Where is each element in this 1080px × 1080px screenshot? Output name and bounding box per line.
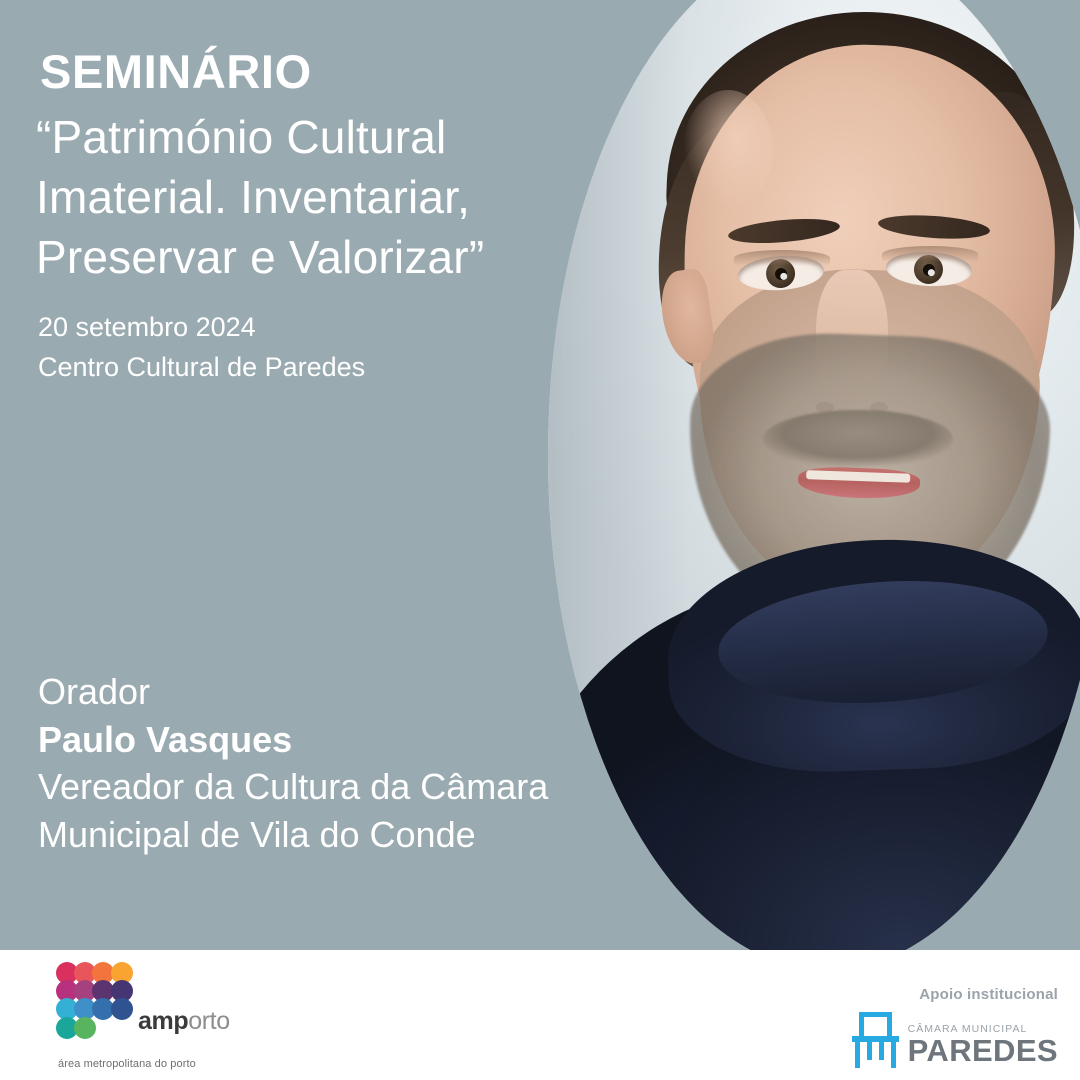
speaker-role-label: Orador	[38, 668, 638, 716]
poster-title: “Património Cultural Imaterial. Inventar…	[36, 108, 566, 287]
poster-background: SEMINÁRIO “Património Cultural Imaterial…	[0, 0, 1080, 950]
poster-footer: amporto área metropolitana do porto Apoi…	[0, 950, 1080, 1080]
amporto-dot-grid	[56, 962, 132, 1038]
eye-glint-left	[780, 273, 787, 280]
poster-kicker: SEMINÁRIO	[40, 48, 312, 95]
teeth	[806, 470, 910, 483]
speaker-position-line-1: Vereador da Cultura da Câmara	[38, 763, 638, 811]
pupil-left	[775, 268, 788, 281]
eyelid-right	[882, 246, 978, 262]
amporto-word-bold: amp	[138, 1007, 188, 1035]
support-label: Apoio institucional	[919, 986, 1058, 1003]
amporto-tagline: área metropolitana do porto	[58, 1058, 196, 1070]
amporto-logo: amporto área metropolitana do porto	[56, 962, 256, 1038]
pupil-right	[923, 264, 936, 277]
amporto-dot	[111, 998, 133, 1020]
eye-glint-right	[928, 269, 935, 276]
municipality-name: PAREDES	[908, 1037, 1058, 1066]
chair-icon	[852, 1012, 899, 1068]
speaker-name: Paulo Vasques	[38, 716, 638, 764]
amporto-word-light: orto	[188, 1007, 229, 1035]
amporto-wordmark: amporto	[138, 1009, 230, 1034]
amporto-dot	[74, 1017, 96, 1039]
event-venue: Centro Cultural de Paredes	[38, 348, 365, 388]
paredes-logo: CÂMARA MUNICIPAL PAREDES	[852, 1012, 1058, 1068]
eyelid-left	[734, 250, 830, 266]
poster-canvas: SEMINÁRIO “Património Cultural Imaterial…	[0, 0, 1080, 1080]
speaker-position-line-2: Municipal de Vila do Conde	[38, 811, 638, 859]
speaker-block: Orador Paulo Vasques Vereador da Cultura…	[38, 668, 638, 858]
paredes-wordmark: CÂMARA MUNICIPAL PAREDES	[908, 1024, 1058, 1068]
event-meta: 20 setembro 2024 Centro Cultural de Pare…	[38, 308, 365, 388]
mustache	[763, 410, 953, 468]
event-date: 20 setembro 2024	[38, 308, 365, 348]
forehead-highlight	[683, 90, 773, 210]
